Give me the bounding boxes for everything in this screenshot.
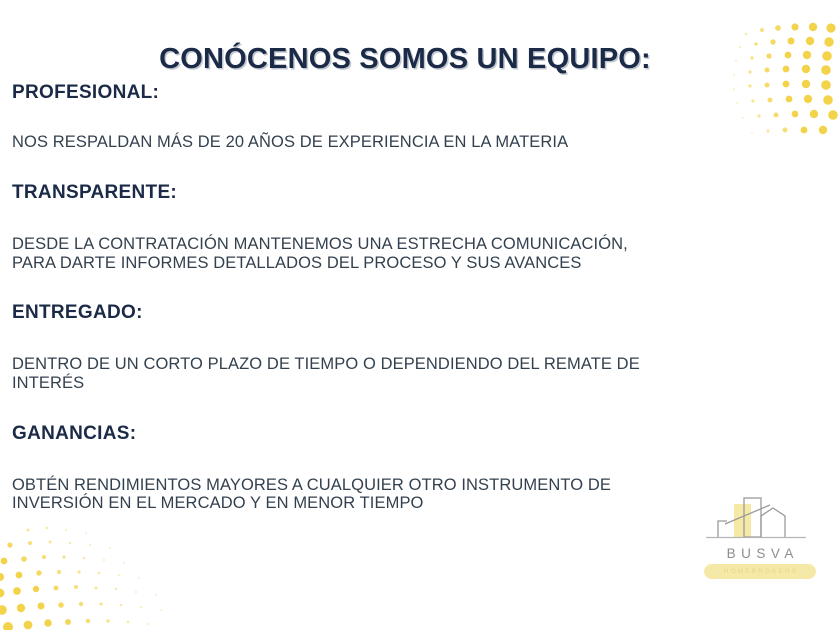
section-ganancias: GANANCIAS: OBTÉN RENDIMIENTOS MAYORES A … xyxy=(12,424,812,513)
building-outline-icon xyxy=(694,496,826,548)
section-heading-ganancias: GANANCIAS: xyxy=(12,424,812,445)
section-entregado: ENTREGADO: DENTRO DE UN CORTO PLAZO DE T… xyxy=(12,303,812,392)
section-heading-transparente: TRANSPARENTE: xyxy=(12,183,812,204)
page-title: CONÓCENOS SOMOS UN EQUIPO: xyxy=(0,43,810,76)
section-profesional: PROFESIONAL: NOS RESPALDAN MÁS DE 20 AÑO… xyxy=(12,83,812,151)
logo-wordmark: BUSVA xyxy=(694,546,826,561)
section-transparente: TRANSPARENTE: DESDE LA CONTRATACIÓN MANT… xyxy=(12,183,812,272)
section-body-transparente: DESDE LA CONTRATACIÓN MANTENEMOS UNA EST… xyxy=(12,235,812,272)
section-body-entregado: DENTRO DE UN CORTO PLAZO DE TIEMPO O DEP… xyxy=(12,355,812,392)
section-heading-profesional: PROFESIONAL: xyxy=(12,83,812,104)
content-area: PROFESIONAL: NOS RESPALDAN MÁS DE 20 AÑO… xyxy=(12,83,812,513)
section-heading-entregado: ENTREGADO: xyxy=(12,303,812,324)
halftone-dots-bottom-left xyxy=(0,520,210,630)
brand-logo: BUSVA HOMEBROKERS xyxy=(694,496,826,588)
logo-tagline: HOMEBROKERS xyxy=(704,564,816,579)
slide-canvas: CONÓCENOS SOMOS UN EQUIPO: PROFESIONAL: … xyxy=(0,0,840,630)
section-body-profesional: NOS RESPALDAN MÁS DE 20 AÑOS DE EXPERIEN… xyxy=(12,133,812,151)
section-body-ganancias: OBTÉN RENDIMIENTOS MAYORES A CUALQUIER O… xyxy=(12,476,812,513)
